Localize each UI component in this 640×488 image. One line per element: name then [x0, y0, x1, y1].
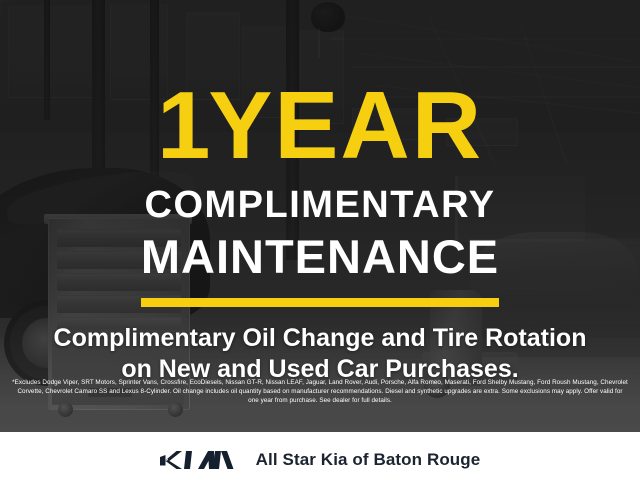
yellow-divider [141, 298, 499, 307]
headline-year-number: 1 [157, 72, 208, 179]
headline-complimentary: COMPLIMENTARY [145, 174, 496, 224]
banner-content: 1YEAR COMPLIMENTARY MAINTENANCE Complime… [0, 0, 640, 488]
headline-year-line: 1YEAR [157, 0, 483, 174]
headline-year-word: YEAR [208, 72, 483, 179]
promo-line-1: Complimentary Oil Change and Tire Rotati… [54, 324, 587, 352]
headline-maintenance: MAINTENANCE [141, 224, 499, 280]
banner-footer: All Star Kia of Baton Rouge [0, 432, 640, 488]
promo-text: Complimentary Oil Change and Tire Rotati… [54, 307, 587, 385]
disclaimer-text: *Excludes Dodge Viper, SRT Motors, Sprin… [12, 379, 628, 406]
promo-banner: 1YEAR COMPLIMENTARY MAINTENANCE Complime… [0, 0, 640, 488]
kia-logo [160, 450, 234, 470]
dealer-name: All Star Kia of Baton Rouge [256, 450, 481, 470]
